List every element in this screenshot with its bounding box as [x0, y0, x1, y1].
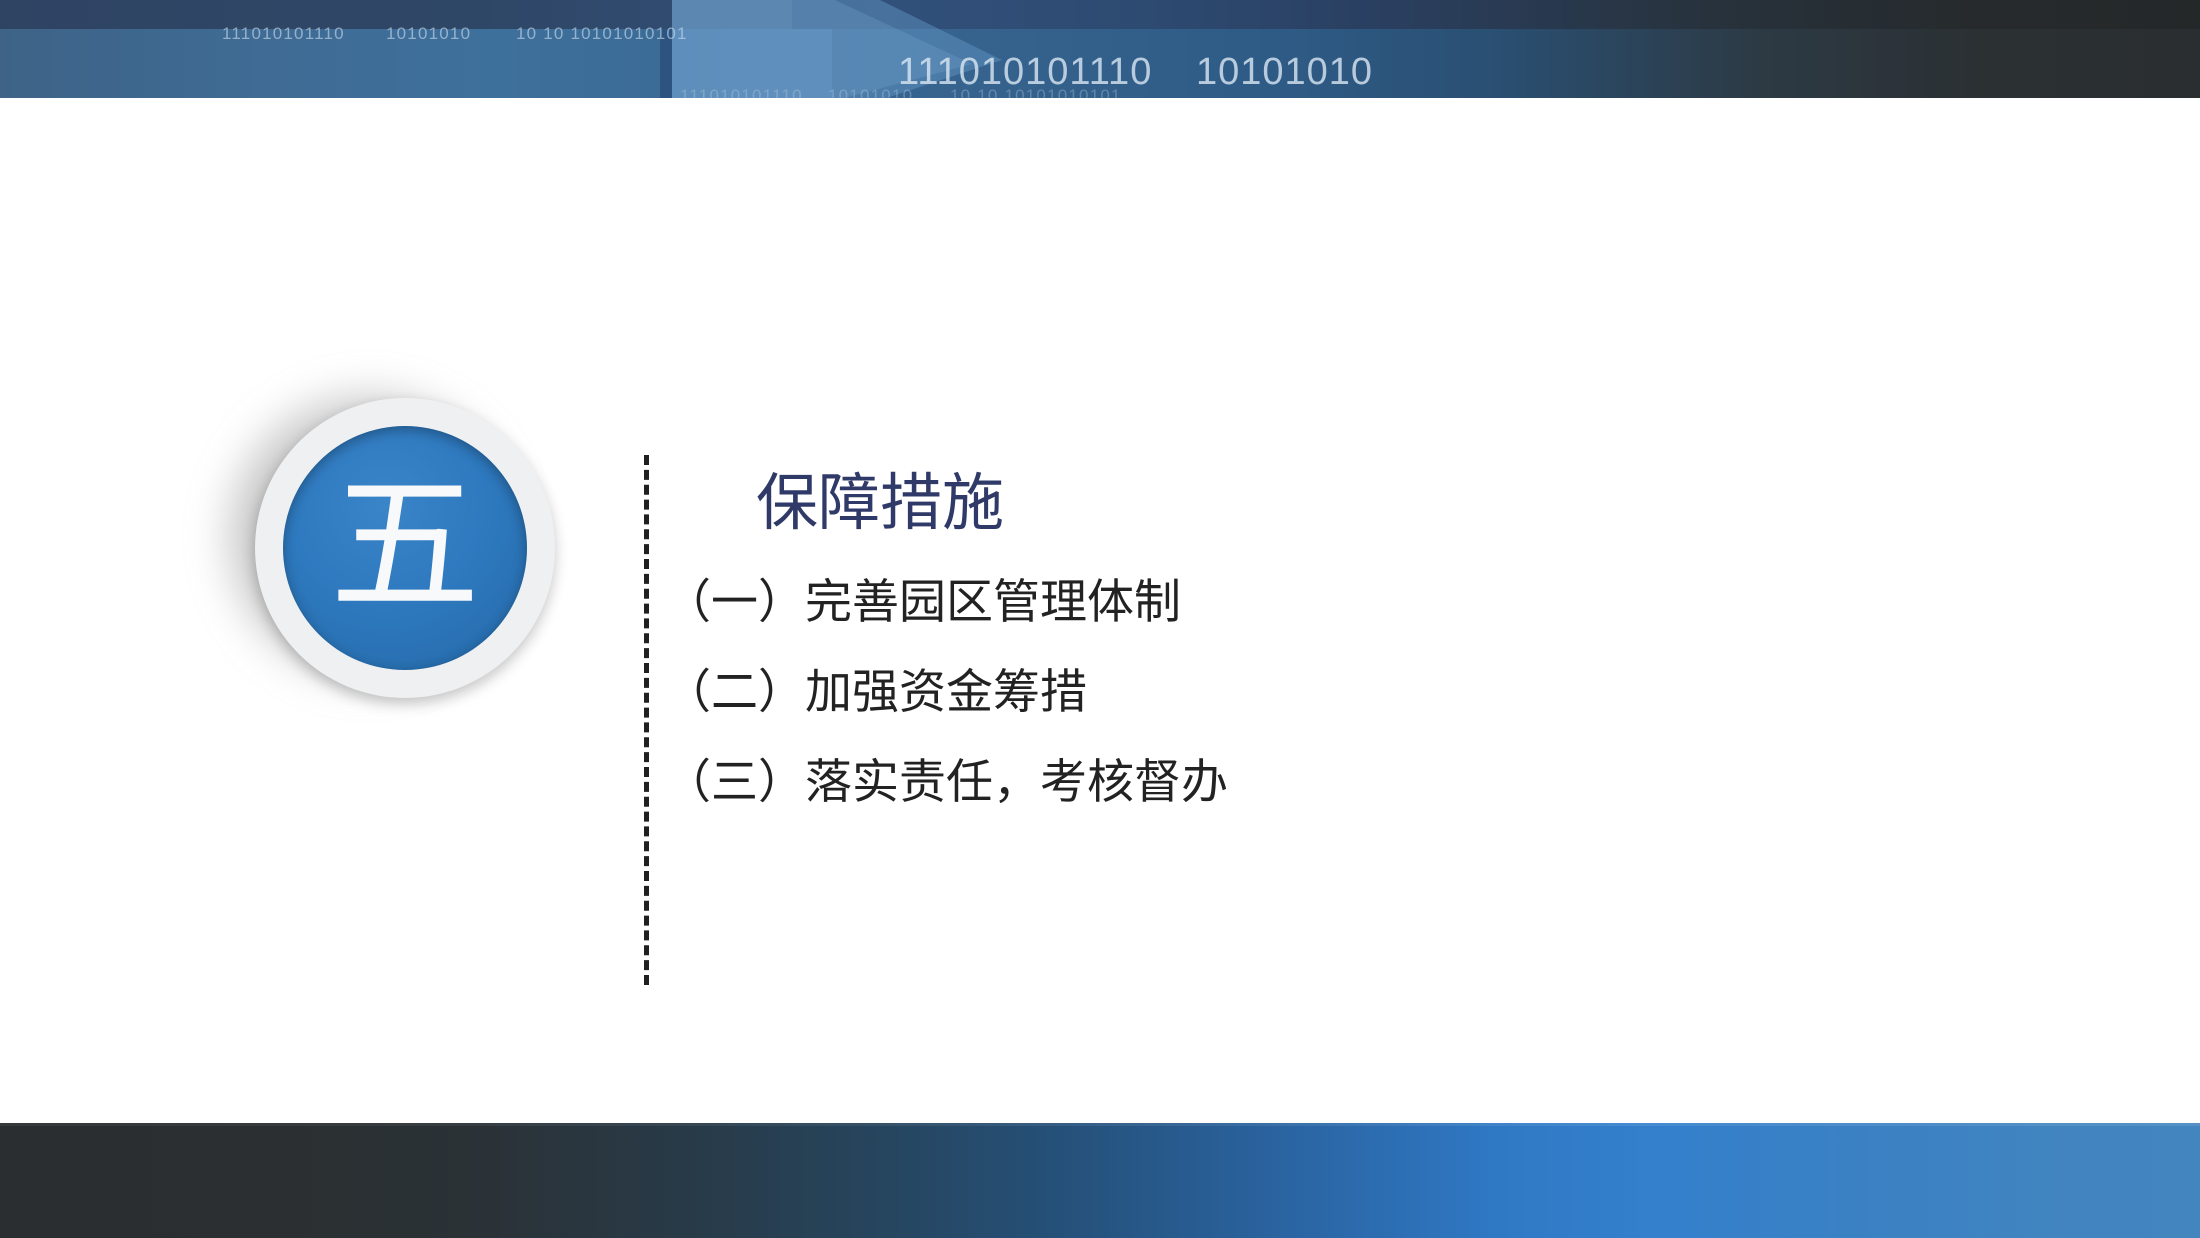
page-title: 保障措施	[756, 470, 2064, 535]
header-binary-text-2: 10101010	[386, 24, 471, 44]
section-number-badge: 五	[255, 398, 555, 698]
slide-content: 保障措施 （一）完善园区管理体制 （二）加强资金筹措 （三）落实责任，考核督办	[664, 470, 2064, 806]
bullet-list: （一）完善园区管理体制 （二）加强资金筹措 （三）落实责任，考核督办	[664, 579, 2064, 806]
slide-footer-banner	[0, 1123, 2200, 1238]
footer-highlight-line	[0, 1123, 2200, 1126]
header-binary-text-1: 111010101110	[222, 24, 345, 44]
vertical-dashed-divider	[644, 455, 649, 985]
list-item: （一）完善园区管理体制	[664, 579, 2064, 626]
list-item: （二）加强资金筹措	[664, 669, 2064, 716]
header-binary-text-faded-1: 111010101110	[680, 86, 803, 98]
slide-canvas: 111010101110 10101010 10 10 10101010101 …	[0, 0, 2200, 1238]
header-binary-text-3: 10 10 10101010101	[516, 24, 688, 44]
list-item: （三）落实责任，考核督办	[664, 759, 2064, 806]
header-binary-large-2: 10101010	[1196, 51, 1373, 94]
badge-outer-ring: 五	[255, 398, 555, 698]
badge-number-label: 五	[330, 471, 480, 621]
slide-header-banner: 111010101110 10101010 10 10 10101010101 …	[0, 0, 2200, 98]
header-binary-large-1: 111010101110	[898, 51, 1152, 94]
badge-inner-circle: 五	[283, 426, 527, 670]
